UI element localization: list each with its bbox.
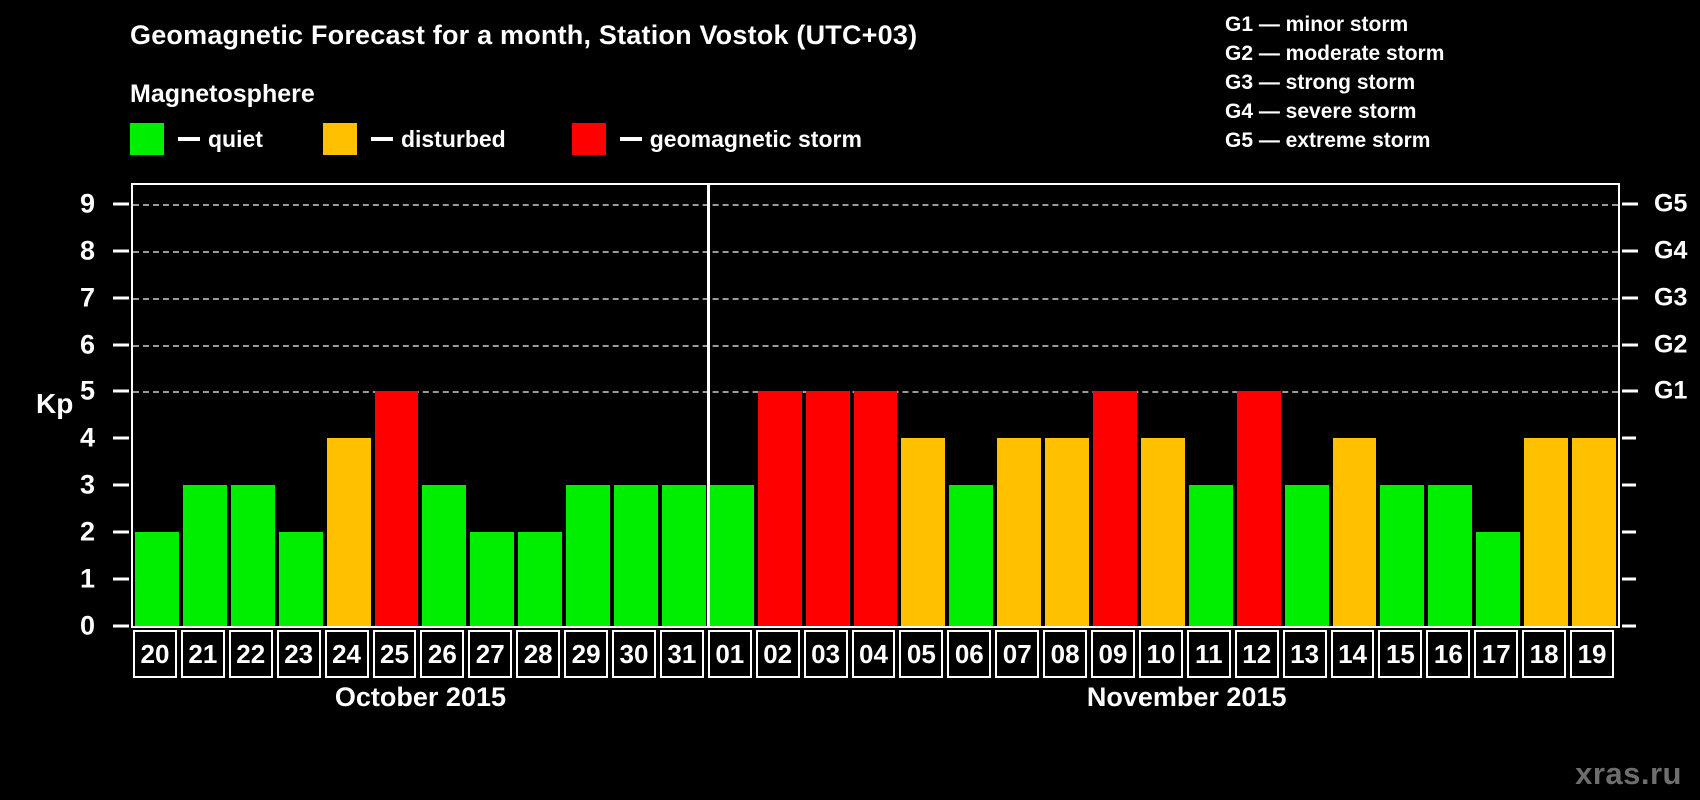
gscale-row-g2: G2 — moderate storm [1225, 39, 1444, 68]
g-label-g5: G5 [1654, 189, 1687, 218]
y-tick-mark-6 [113, 343, 129, 346]
day-label-09: 09 [1091, 630, 1135, 678]
legend-dash-icon [620, 137, 642, 141]
g-minor-tick-4 [1622, 437, 1636, 440]
day-axis-labels: 2021222324252627282930310102030405060708… [131, 630, 1616, 678]
day-label-20: 20 [133, 630, 177, 678]
day-label-24: 24 [325, 630, 369, 678]
bar-day-24 [327, 438, 371, 626]
day-label-07: 07 [995, 630, 1039, 678]
bar-day-15 [1380, 485, 1424, 626]
legend-item-quiet: quiet [130, 123, 263, 155]
bar-day-23 [279, 532, 323, 626]
bar-day-04 [854, 391, 898, 626]
y-tick-mark-1 [113, 578, 129, 581]
y-tick-mark-3 [113, 484, 129, 487]
g-minor-tick-0 [1622, 625, 1636, 628]
bar-day-02 [758, 391, 802, 626]
day-label-31: 31 [660, 630, 704, 678]
day-label-26: 26 [420, 630, 464, 678]
day-label-30: 30 [612, 630, 656, 678]
y-tick-mark-7 [113, 296, 129, 299]
y-tick-label-4: 4 [80, 423, 95, 454]
y-tick-mark-9 [113, 202, 129, 205]
bar-day-20 [135, 532, 179, 626]
day-label-17: 17 [1474, 630, 1518, 678]
watermark: xras.ru [1575, 756, 1682, 792]
y-tick-label-2: 2 [80, 517, 95, 548]
bar-day-01 [710, 485, 754, 626]
bar-day-27 [470, 532, 514, 626]
day-label-23: 23 [277, 630, 321, 678]
g-axis: G1G2G3G4G5 [1620, 183, 1700, 628]
month-caption-1: November 2015 [1087, 682, 1287, 713]
day-label-06: 06 [947, 630, 991, 678]
legend-item-storm: geomagnetic storm [572, 123, 862, 155]
g-minor-tick-1 [1622, 578, 1636, 581]
bar-day-08 [1045, 438, 1089, 626]
bar-day-12 [1237, 391, 1281, 626]
day-label-05: 05 [899, 630, 943, 678]
bar-day-30 [614, 485, 658, 626]
day-label-22: 22 [229, 630, 273, 678]
y-tick-label-5: 5 [80, 376, 95, 407]
gscale-legend: G1 — minor storm G2 — moderate storm G3 … [1225, 10, 1444, 155]
y-tick-label-7: 7 [80, 282, 95, 313]
bar-day-05 [901, 438, 945, 626]
g-tick-mark-g1 [1622, 390, 1638, 393]
g-tick-mark-g5 [1622, 202, 1638, 205]
orange-square-icon [323, 123, 357, 155]
day-label-15: 15 [1378, 630, 1422, 678]
day-label-28: 28 [516, 630, 560, 678]
y-tick-mark-5 [113, 390, 129, 393]
bar-day-06 [949, 485, 993, 626]
page-title: Geomagnetic Forecast for a month, Statio… [130, 20, 917, 51]
legend-label-storm: geomagnetic storm [650, 126, 862, 153]
gscale-row-g4: G4 — severe storm [1225, 97, 1444, 126]
day-label-19: 19 [1570, 630, 1614, 678]
day-label-11: 11 [1187, 630, 1231, 678]
bar-day-07 [997, 438, 1041, 626]
bar-day-11 [1189, 485, 1233, 626]
bar-day-21 [183, 485, 227, 626]
g-label-g3: G3 [1654, 283, 1687, 312]
g-label-g2: G2 [1654, 330, 1687, 359]
green-square-icon [130, 123, 164, 155]
day-label-16: 16 [1426, 630, 1470, 678]
bar-day-09 [1093, 391, 1137, 626]
y-tick-mark-2 [113, 531, 129, 534]
legend-dash-icon [178, 137, 200, 141]
bar-day-22 [231, 485, 275, 626]
g-tick-mark-g3 [1622, 296, 1638, 299]
y-tick-label-9: 9 [80, 188, 95, 219]
bar-day-14 [1333, 438, 1377, 626]
bar-day-25 [375, 391, 419, 626]
day-label-08: 08 [1043, 630, 1087, 678]
bar-day-31 [662, 485, 706, 626]
bar-day-18 [1524, 438, 1568, 626]
y-axis-title: Kp [36, 388, 73, 420]
g-minor-tick-3 [1622, 484, 1636, 487]
red-square-icon [572, 123, 606, 155]
day-label-21: 21 [181, 630, 225, 678]
bar-day-16 [1428, 485, 1472, 626]
bar-day-26 [422, 485, 466, 626]
day-label-27: 27 [468, 630, 512, 678]
day-label-25: 25 [373, 630, 417, 678]
day-label-04: 04 [852, 630, 896, 678]
day-label-02: 02 [756, 630, 800, 678]
month-caption-0: October 2015 [335, 682, 506, 713]
gscale-row-g1: G1 — minor storm [1225, 10, 1444, 39]
gscale-row-g5: G5 — extreme storm [1225, 126, 1444, 155]
legend-heading: Magnetosphere [130, 80, 315, 109]
y-tick-label-6: 6 [80, 329, 95, 360]
bar-day-28 [518, 532, 562, 626]
g-tick-mark-g4 [1622, 249, 1638, 252]
day-label-03: 03 [804, 630, 848, 678]
gscale-row-g3: G3 — strong storm [1225, 68, 1444, 97]
bar-day-03 [806, 391, 850, 626]
y-tick-mark-0 [113, 625, 129, 628]
plot-area [131, 183, 1620, 628]
y-tick-label-3: 3 [80, 470, 95, 501]
y-tick-mark-8 [113, 249, 129, 252]
g-label-g4: G4 [1654, 236, 1687, 265]
day-label-18: 18 [1522, 630, 1566, 678]
g-minor-tick-2 [1622, 531, 1636, 534]
bar-day-10 [1141, 438, 1185, 626]
legend-label-disturbed: disturbed [401, 126, 506, 153]
g-label-g1: G1 [1654, 377, 1687, 406]
day-label-12: 12 [1235, 630, 1279, 678]
y-tick-label-0: 0 [80, 611, 95, 642]
y-tick-label-8: 8 [80, 235, 95, 266]
magnetosphere-legend: quiet disturbed geomagnetic storm [130, 123, 862, 155]
day-label-13: 13 [1283, 630, 1327, 678]
legend-dash-icon [371, 137, 393, 141]
bar-day-13 [1285, 485, 1329, 626]
legend-item-disturbed: disturbed [323, 123, 506, 155]
chart-canvas: Geomagnetic Forecast for a month, Statio… [0, 0, 1700, 800]
legend-label-quiet: quiet [208, 126, 263, 153]
day-label-29: 29 [564, 630, 608, 678]
y-tick-label-1: 1 [80, 564, 95, 595]
g-tick-mark-g2 [1622, 343, 1638, 346]
bar-day-19 [1572, 438, 1616, 626]
day-label-01: 01 [708, 630, 752, 678]
bar-day-29 [566, 485, 610, 626]
bars-layer [133, 185, 1618, 626]
day-label-14: 14 [1331, 630, 1375, 678]
y-tick-mark-4 [113, 437, 129, 440]
day-label-10: 10 [1139, 630, 1183, 678]
bar-day-17 [1476, 532, 1520, 626]
